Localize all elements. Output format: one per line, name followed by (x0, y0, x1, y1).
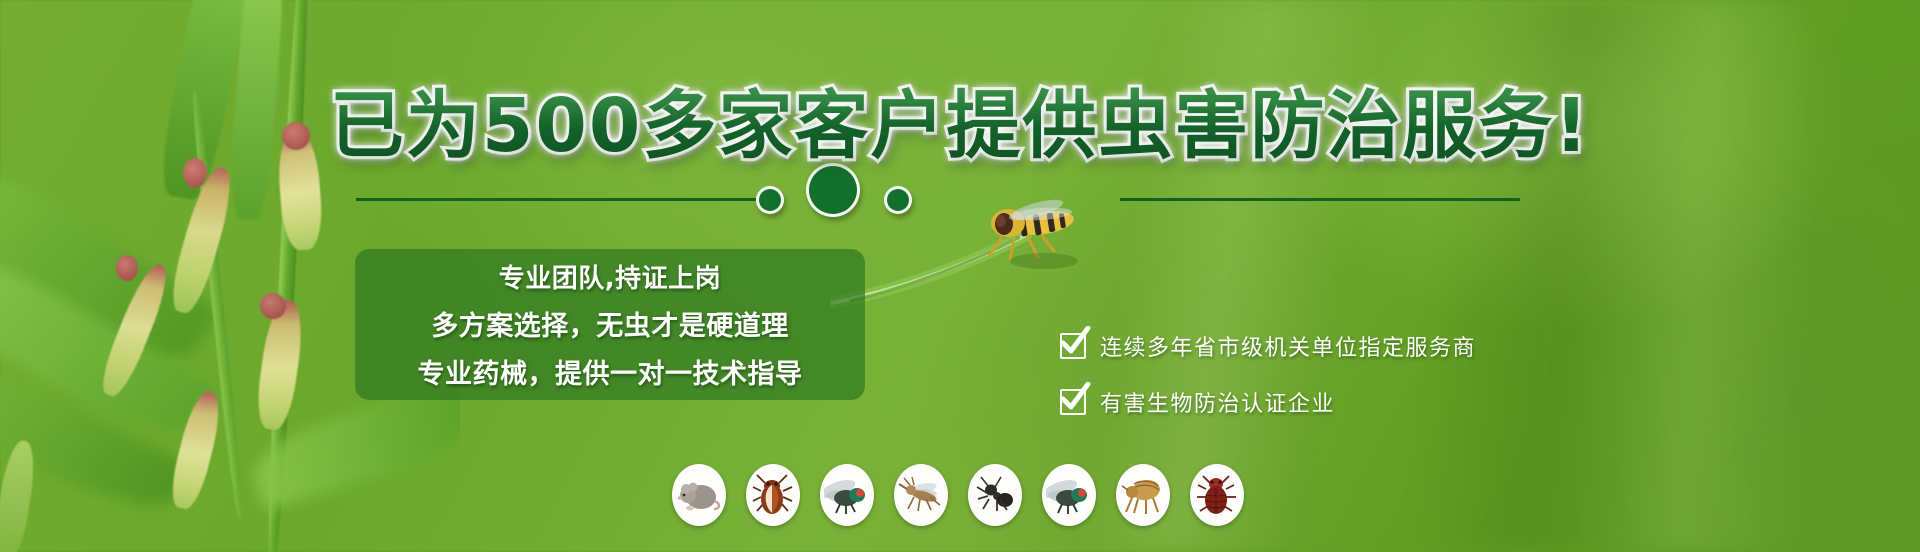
decor-dot-small-right (884, 186, 912, 214)
credential-label: 连续多年省市级机关单位指定服务商 (1100, 330, 1476, 362)
hoverfly-illustration (830, 195, 1120, 315)
checkbox-checked-icon (1060, 389, 1086, 415)
credential-label: 有害生物防治认证企业 (1100, 386, 1335, 418)
blowfly-icon (1042, 464, 1096, 526)
cockroach-icon (746, 464, 800, 526)
mosquito-icon (894, 464, 948, 526)
decor-dot-small-left (756, 186, 784, 214)
checkbox-checked-icon (1060, 333, 1086, 359)
page-headline: 已为500多家客户提供虫害防治服务! (0, 66, 1920, 173)
credentials-list: 连续多年省市级机关单位指定服务商 有害生物防治认证企业 (1060, 330, 1476, 442)
pest-control-banner: 已为500多家客户提供虫害防治服务! 已为500多家客户提供虫害防治服务! 专业… (0, 0, 1920, 552)
flea-icon (1116, 464, 1170, 526)
fly-icon (820, 464, 874, 526)
credential-item: 连续多年省市级机关单位指定服务商 (1060, 330, 1476, 362)
divider-rule-left (356, 198, 756, 201)
pest-icon-row (672, 464, 1244, 526)
bedbug-icon (1190, 464, 1244, 526)
mouse-icon (672, 464, 726, 526)
credential-item: 有害生物防治认证企业 (1060, 386, 1476, 418)
slogan-panel (355, 249, 865, 400)
ant-icon (968, 464, 1022, 526)
divider-rule-right (1120, 198, 1520, 201)
